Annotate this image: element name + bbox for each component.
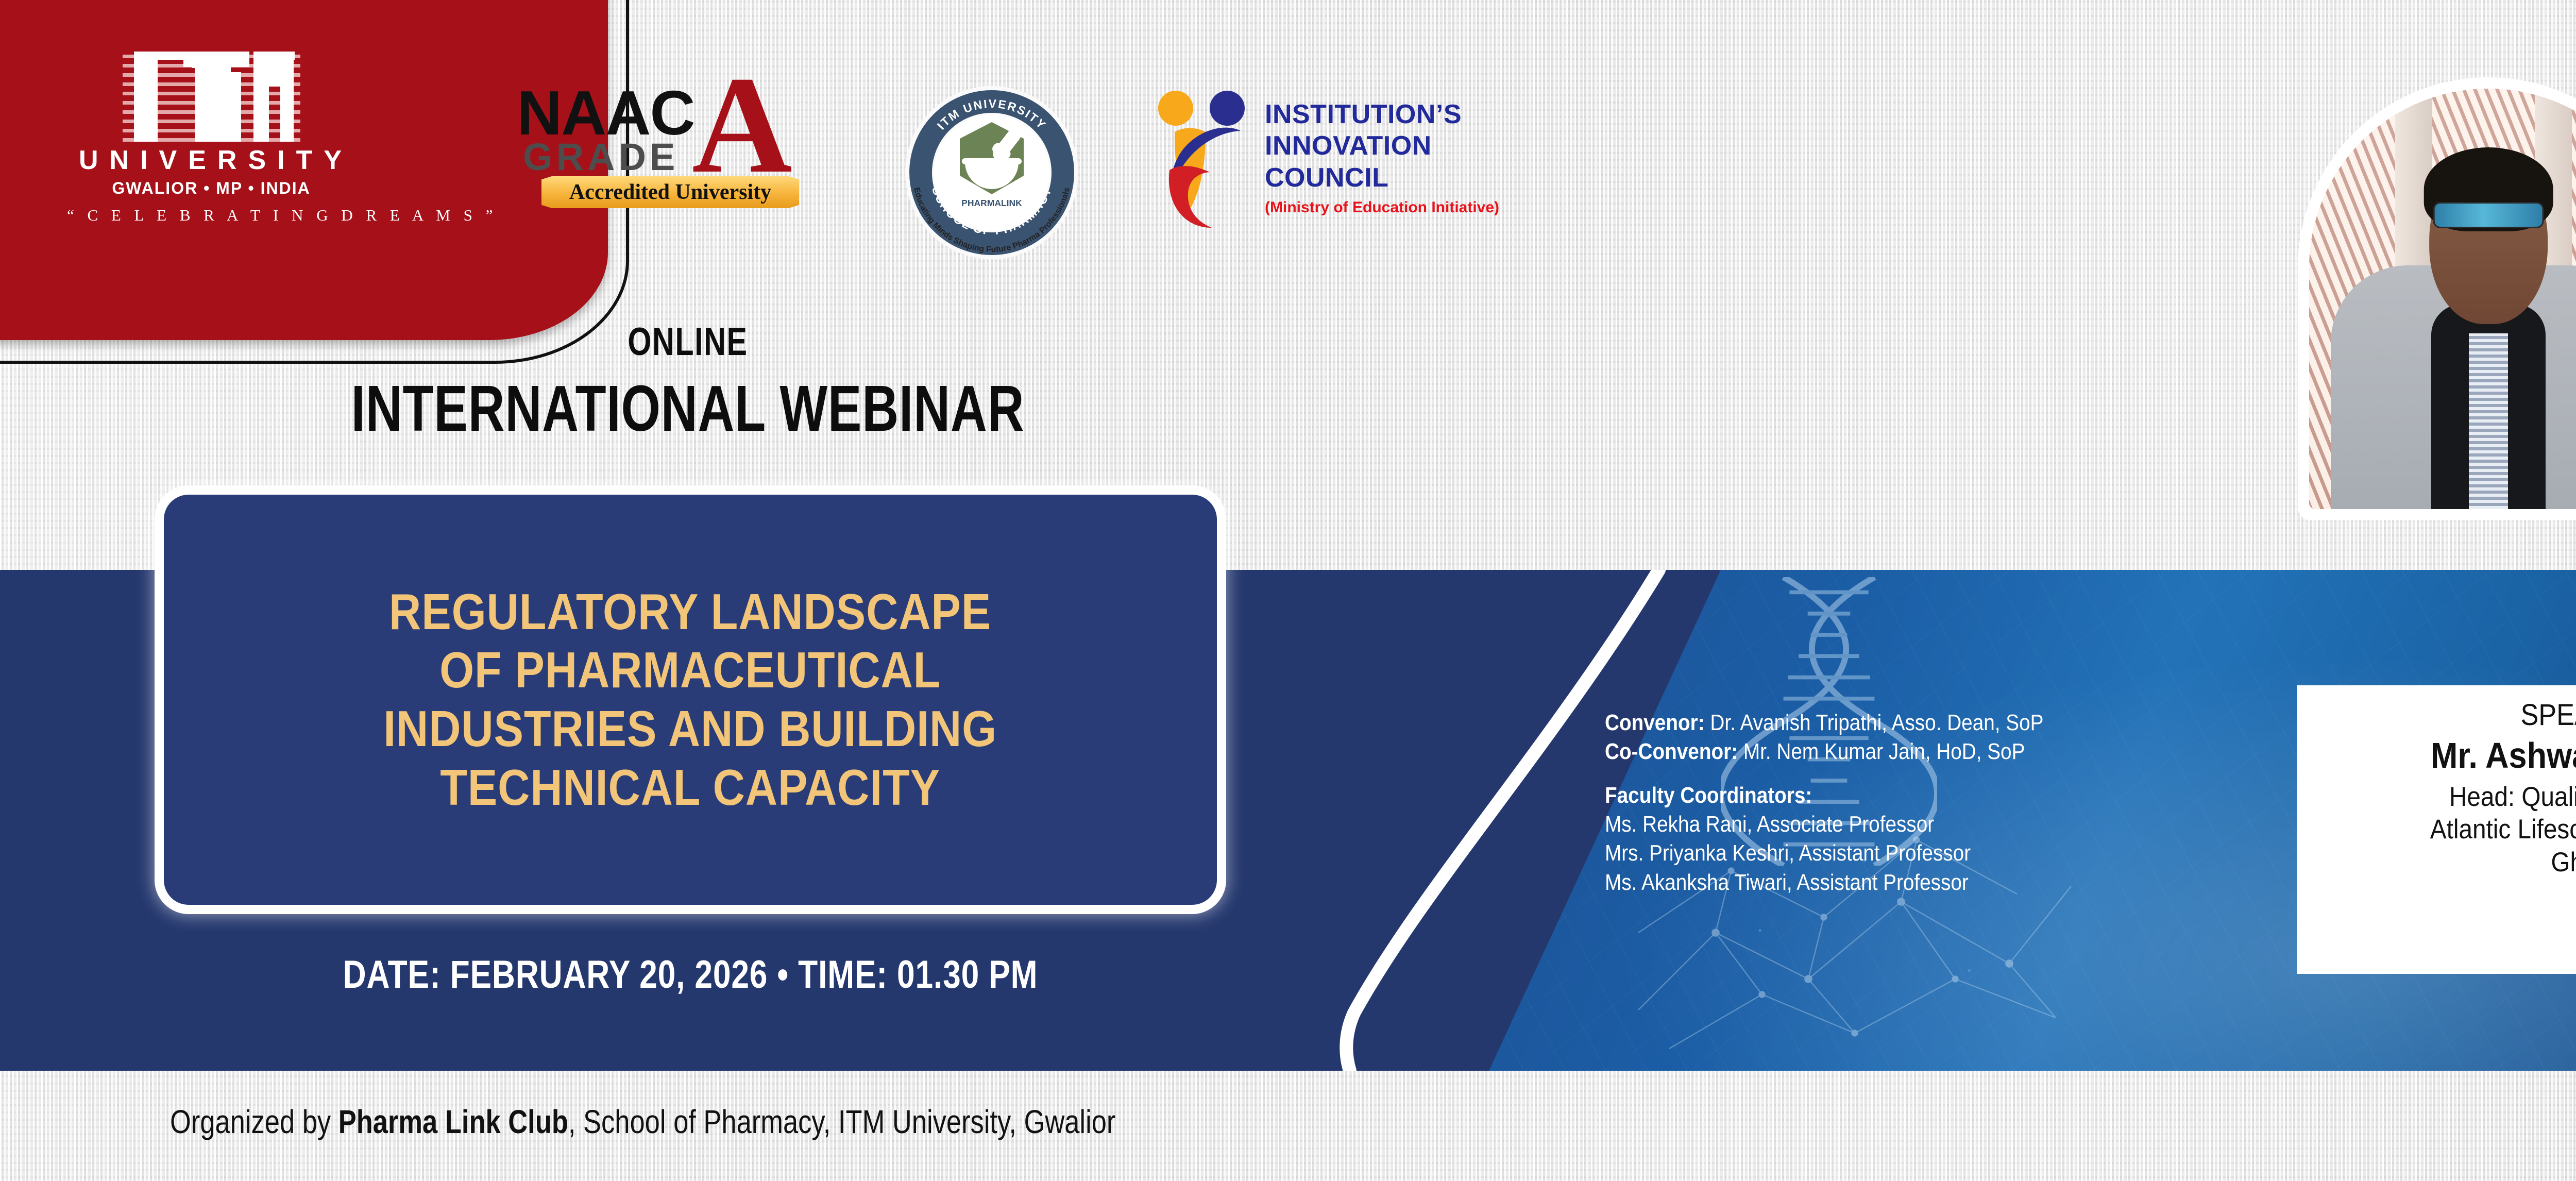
naac-grade-letter: A	[692, 56, 792, 195]
list-item: Ms. Akanksha Tiwari, Assistant Professor	[1605, 868, 2194, 897]
convenor-line: Convenor: Dr. Avanish Tripathi, Asso. De…	[1605, 708, 2194, 737]
organized-by-prefix: Organized by	[170, 1103, 338, 1140]
itm-name: UNIVERSITY	[76, 147, 355, 174]
speaker-label: SPEAKER:	[2338, 699, 2576, 732]
co-convenor-value: Mr. Nem Kumar Jain, HoD, SoP	[1738, 739, 2025, 764]
iic-line-2: INNOVATION	[1265, 130, 1499, 162]
webinar-poster: UNIVERSITY GWALIOR • MP • INDIA “ C E L …	[0, 0, 2576, 1181]
convenor-value: Dr. Avanish Tripathi, Asso. Dean, SoP	[1705, 710, 2044, 735]
webinar-title-card: REGULATORY LANDSCAPE OF PHARMACEUTICAL I…	[155, 485, 1226, 914]
organisers-block: Convenor: Dr. Avanish Tripathi, Asso. De…	[1605, 708, 2275, 897]
organizing-club: Pharma Link Club	[338, 1103, 568, 1140]
iic-figure-icon	[1154, 88, 1257, 232]
naac-ribbon: Accredited University	[541, 176, 799, 208]
speaker-photo-frame	[2298, 77, 2576, 520]
date-time-line: DATE: FEBRUARY 20, 2026 • TIME: 01.30 PM	[251, 952, 1130, 997]
school-of-pharmacy-seal-icon: PHARMALINK ITM UNIVERSITY SCHOOL OF PHAR…	[904, 85, 1079, 260]
itm-location: GWALIOR • MP • INDIA	[67, 179, 355, 198]
iic-line-1: INSTITUTION’S	[1265, 99, 1499, 130]
iic-line-3: COUNCIL	[1265, 162, 1499, 194]
iic-text-block: INSTITUTION’S INNOVATION COUNCIL (Minist…	[1265, 99, 1499, 216]
co-convenor-line: Co-Convenor: Mr. Nem Kumar Jain, HoD, So…	[1605, 737, 2194, 766]
itm-university-logo: UNIVERSITY GWALIOR • MP • INDIA “ C E L …	[67, 52, 355, 225]
naac-grade-label: GRADE	[523, 138, 679, 176]
organized-by-suffix: , School of Pharmacy, ITM University, Gw…	[568, 1103, 1116, 1140]
kicker-online: ONLINE	[264, 319, 1112, 364]
naac-ribbon-label: Accredited University	[569, 180, 771, 205]
webinar-title-text: REGULATORY LANDSCAPE OF PHARMACEUTICAL I…	[384, 583, 997, 817]
page-title: INTERNATIONAL WEBINAR	[264, 371, 1112, 446]
speaker-affiliation: Head: Quality Assurance, Atlantic Lifesc…	[2338, 781, 2576, 879]
avatar	[2309, 89, 2576, 509]
faculty-coordinators-label: Faculty Coordinators:	[1605, 781, 2194, 810]
naac-grade-logo: NAAC GRADE A Accredited University	[507, 62, 806, 232]
speaker-info-card: SPEAKER: Mr. Ashwani Tripathi Head: Qual…	[2297, 685, 2576, 974]
faculty-coordinators-label-text: Faculty Coordinators:	[1605, 783, 1812, 808]
speaker-name: Mr. Ashwani Tripathi	[2338, 735, 2576, 777]
naac-title: NAAC	[517, 81, 694, 144]
svg-text:PHARMALINK: PHARMALINK	[961, 198, 1022, 208]
itm-tagline: “ C E L E B R A T I N G D R E A M S ”	[67, 206, 355, 225]
list-item: Mrs. Priyanka Keshri, Assistant Professo…	[1605, 839, 2194, 868]
iic-ministry-note: (Ministry of Education Initiative)	[1265, 199, 1499, 216]
institutions-innovation-council-logo: INSTITUTION’S INNOVATION COUNCIL (Minist…	[1154, 88, 1515, 237]
convenor-label: Convenor:	[1605, 710, 1705, 735]
spacer	[1605, 767, 2275, 781]
list-item: Ms. Rekha Rani, Associate Professor	[1605, 810, 2194, 839]
co-convenor-label: Co-Convenor:	[1605, 739, 1738, 764]
organized-by-line: Organized by Pharma Link Club, School of…	[170, 1103, 1115, 1141]
itm-wordmark-icon	[123, 52, 300, 142]
